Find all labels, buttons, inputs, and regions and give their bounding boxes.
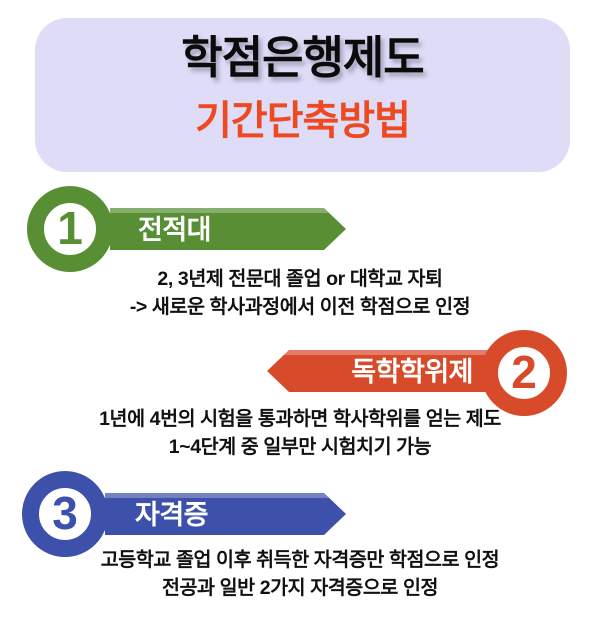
step-3-body-line-2: 전공과 일반 2가지 자격증으로 인정	[0, 575, 600, 603]
step-2-body: 1년에 4번의 시험을 통과하면 학사학위를 얻는 제도 1~4단계 중 일부만…	[0, 406, 600, 461]
step-3-label: 자격증	[135, 502, 208, 529]
step-3-banner: 자격증	[105, 493, 346, 535]
step-2-number: 2	[511, 349, 537, 395]
banner-sheen	[110, 208, 346, 213]
step-3-number: 3	[52, 490, 78, 536]
infographic-canvas: 학점은행제도 기간단축방법 1 전적대 2, 3년제 전문대 졸업 or 대학교…	[0, 0, 600, 624]
step-1-body-line-1: 2, 3년제 전문대 졸업 or 대학교 자퇴	[0, 266, 600, 294]
step-2-label: 독학학위제	[351, 359, 473, 386]
page-title: 학점은행제도	[35, 34, 570, 81]
step-3-body-line-1: 고등학교 졸업 이후 취득한 자격증만 학점으로 인정	[0, 547, 600, 575]
step-1-label: 전적대	[138, 217, 211, 244]
step-3-number-badge: 3	[22, 471, 108, 557]
step-1-body-line-2: -> 새로운 학사과정에서 이전 학점으로 인정	[0, 294, 600, 322]
step-1-banner: 전적대	[110, 208, 346, 250]
banner-sheen	[105, 493, 346, 498]
step-1-number: 1	[57, 205, 83, 251]
header-card: 학점은행제도 기간단축방법	[35, 18, 570, 172]
step-1-body: 2, 3년제 전문대 졸업 or 대학교 자퇴 -> 새로운 학사과정에서 이전…	[0, 266, 600, 321]
step-2-number-badge: 2	[481, 330, 567, 416]
step-2-body-line-2: 1~4단계 중 일부만 시험치기 가능	[0, 434, 600, 462]
step-1-number-badge: 1	[27, 186, 113, 272]
step-3-body: 고등학교 졸업 이후 취득한 자격증만 학점으로 인정 전공과 일반 2가지 자…	[0, 547, 600, 602]
step-2-banner: 독학학위제	[267, 350, 503, 392]
page-subtitle: 기간단축방법	[35, 100, 570, 142]
banner-sheen	[267, 350, 503, 355]
